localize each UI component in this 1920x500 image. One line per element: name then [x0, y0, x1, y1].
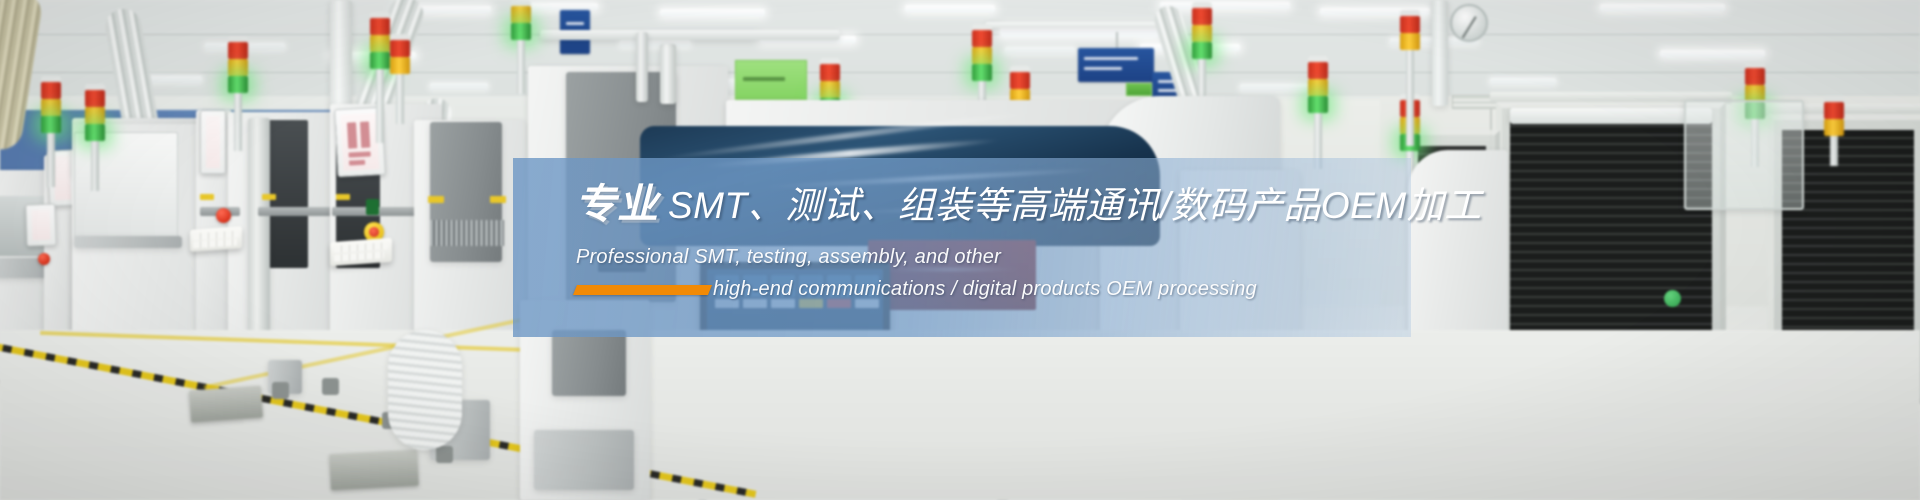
machine-hmi-left-2[interactable]: [25, 203, 56, 246]
stack-light-3: [228, 36, 248, 151]
stack-light-center: [511, 0, 531, 94]
floor-plate-1: [189, 386, 263, 423]
banner-screenshot: 专业SMT、测试、组装等高端通讯/数码产品OEM加工 Professional …: [0, 0, 1920, 500]
factory-floor: [0, 330, 1920, 500]
banner-subtitle-line2: high-end communications / digital produc…: [713, 278, 1257, 301]
overhead-sign-left: [1078, 48, 1154, 82]
status-placard: [735, 60, 807, 100]
banner-headline-strong: 专业: [575, 181, 659, 227]
stack-light-right-4: [1400, 10, 1420, 146]
banner-headline: 专业SMT、测试、组装等高端通讯/数码产品OEM加工: [575, 184, 1482, 225]
glass-partition: [1684, 100, 1804, 210]
banner-headline-rest: SMT、测试、组装等高端通讯/数码产品OEM加工: [668, 185, 1482, 226]
banner-subtitle-line1: Professional SMT, testing, assembly, and…: [576, 246, 1001, 269]
stack-light-2: [85, 84, 105, 191]
stack-light-5: [390, 34, 410, 124]
machine-hmi-mid[interactable]: [200, 110, 226, 174]
banner-accent-bar: [573, 285, 712, 295]
stack-light-center-6: [1308, 56, 1328, 169]
stack-light-1: [41, 76, 61, 187]
exit-sign: [1126, 83, 1152, 96]
promo-banner-overlay: 专业SMT、测试、组装等高端通讯/数码产品OEM加工 Professional …: [513, 158, 1411, 337]
stack-light-4: [370, 12, 390, 143]
floor-plate-2: [329, 450, 419, 491]
wall-clock-icon: [1450, 4, 1488, 42]
stack-light-right-3: [1824, 96, 1844, 166]
cable-bundle: [388, 330, 462, 450]
